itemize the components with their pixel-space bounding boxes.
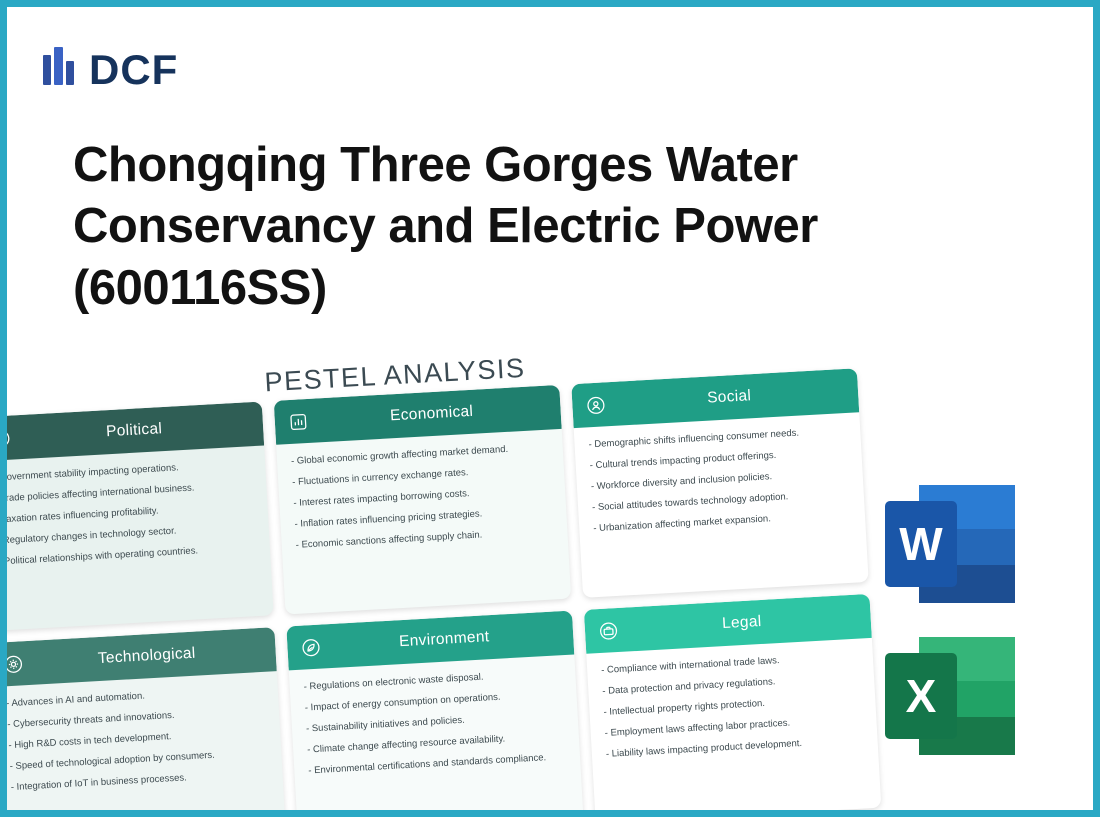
bullet-item: - Regulations on electronic waste dispos… <box>303 668 561 693</box>
bullet-item: - Regulatory changes in technology secto… <box>0 522 255 547</box>
bullet-item: - Taxation rates influencing profitabili… <box>0 501 254 526</box>
bullet-item: - Employment laws affecting labor practi… <box>604 714 862 739</box>
card-body-environment: - Regulations on electronic waste dispos… <box>289 654 584 817</box>
bullet-item: - Impact of energy consumption on operat… <box>305 689 563 714</box>
card-body-social: - Demographic shifts influencing consume… <box>574 412 869 598</box>
bullet-item: - High R&D costs in tech development. <box>8 727 266 752</box>
bullet-item: - Political relationships with operating… <box>0 543 256 568</box>
dcf-bars-logo-icon <box>43 47 79 93</box>
pestel-card-economical: Economical - Global economic growth affe… <box>274 385 571 615</box>
bullet-item: - Economic sanctions affecting supply ch… <box>296 526 554 551</box>
pestel-analysis-graphic: PESTEL ANALYSIS P E S T E L Political <box>0 324 879 817</box>
bullet-item: - Liability laws impacting product devel… <box>606 735 864 760</box>
card-title-economical: Economical <box>316 399 547 430</box>
bar-chart-icon <box>288 411 308 431</box>
briefcase-icon <box>599 621 619 641</box>
word-document-icon[interactable]: W <box>885 485 1015 603</box>
person-icon <box>586 395 606 415</box>
bullet-item: - Trade policies affecting international… <box>0 480 253 505</box>
bullet-item: - Cybersecurity threats and innovations. <box>7 706 265 731</box>
card-body-economical: - Global economic growth affecting marke… <box>276 429 571 615</box>
bullet-item: - Compliance with international trade la… <box>601 652 859 677</box>
excel-spreadsheet-icon[interactable]: X <box>885 637 1015 755</box>
bullet-item: - Workforce diversity and inclusion poli… <box>591 468 849 493</box>
bullet-item: - Interest rates impacting borrowing cos… <box>293 484 551 509</box>
bullet-item: - Speed of technological adoption by con… <box>9 748 267 773</box>
card-title-social: Social <box>614 382 845 413</box>
bullet-item: - Environmental certifications and stand… <box>308 752 566 777</box>
card-body-technological: - Advances in AI and automation. - Cyber… <box>0 671 286 817</box>
bullet-item: - Social attitudes towards technology ad… <box>592 489 850 514</box>
bullet-item: - Government stability impacting operati… <box>0 459 252 484</box>
page-title: Chongqing Three Gorges Water Conservancy… <box>73 135 953 319</box>
svg-text:W: W <box>899 518 943 570</box>
card-title-political: Political <box>19 415 250 446</box>
document-page: DCF Chongqing Three Gorges Water Conserv… <box>0 0 1100 817</box>
bullet-item: - Sustainability initiatives and policie… <box>306 710 564 735</box>
government-building-icon <box>0 428 11 448</box>
pestel-card-environment: Environment - Regulations on electronic … <box>286 611 583 817</box>
bullet-item: - Inflation rates influencing pricing st… <box>294 505 552 530</box>
bullet-item: - Global economic growth affecting marke… <box>291 443 549 468</box>
bullet-item: - Demographic shifts influencing consume… <box>588 426 846 451</box>
pestel-card-political: Political - Government stability impacti… <box>0 402 274 632</box>
brand-logo[interactable]: DCF <box>43 47 178 93</box>
bullet-item: - Data protection and privacy regulation… <box>602 672 860 697</box>
bullet-item: - Integration of IoT in business process… <box>11 768 269 793</box>
bullet-item: - Fluctuations in currency exchange rate… <box>292 463 550 488</box>
card-title-environment: Environment <box>329 624 560 655</box>
pestel-card-legal: Legal - Compliance with international tr… <box>584 594 881 817</box>
leaf-circle-icon <box>301 637 321 657</box>
bullet-item: - Advances in AI and automation. <box>6 685 264 710</box>
pestel-card-grid: Political - Government stability impacti… <box>0 368 879 817</box>
svg-text:X: X <box>906 670 937 722</box>
pestel-card-social: Social - Demographic shifts influencing … <box>571 368 868 598</box>
bullet-item: - Intellectual property rights protectio… <box>603 693 861 718</box>
card-title-technological: Technological <box>31 641 262 672</box>
card-title-legal: Legal <box>626 608 857 639</box>
card-body-legal: - Compliance with international trade la… <box>586 638 881 817</box>
pestel-card-technological: Technological - Advances in AI and autom… <box>0 627 286 817</box>
bullet-item: - Cultural trends impacting product offe… <box>590 447 848 472</box>
bullet-item: - Urbanization affecting market expansio… <box>593 510 851 535</box>
brand-name: DCF <box>89 49 178 91</box>
gear-icon <box>3 654 23 674</box>
card-body-political: - Government stability impacting operati… <box>0 445 274 631</box>
